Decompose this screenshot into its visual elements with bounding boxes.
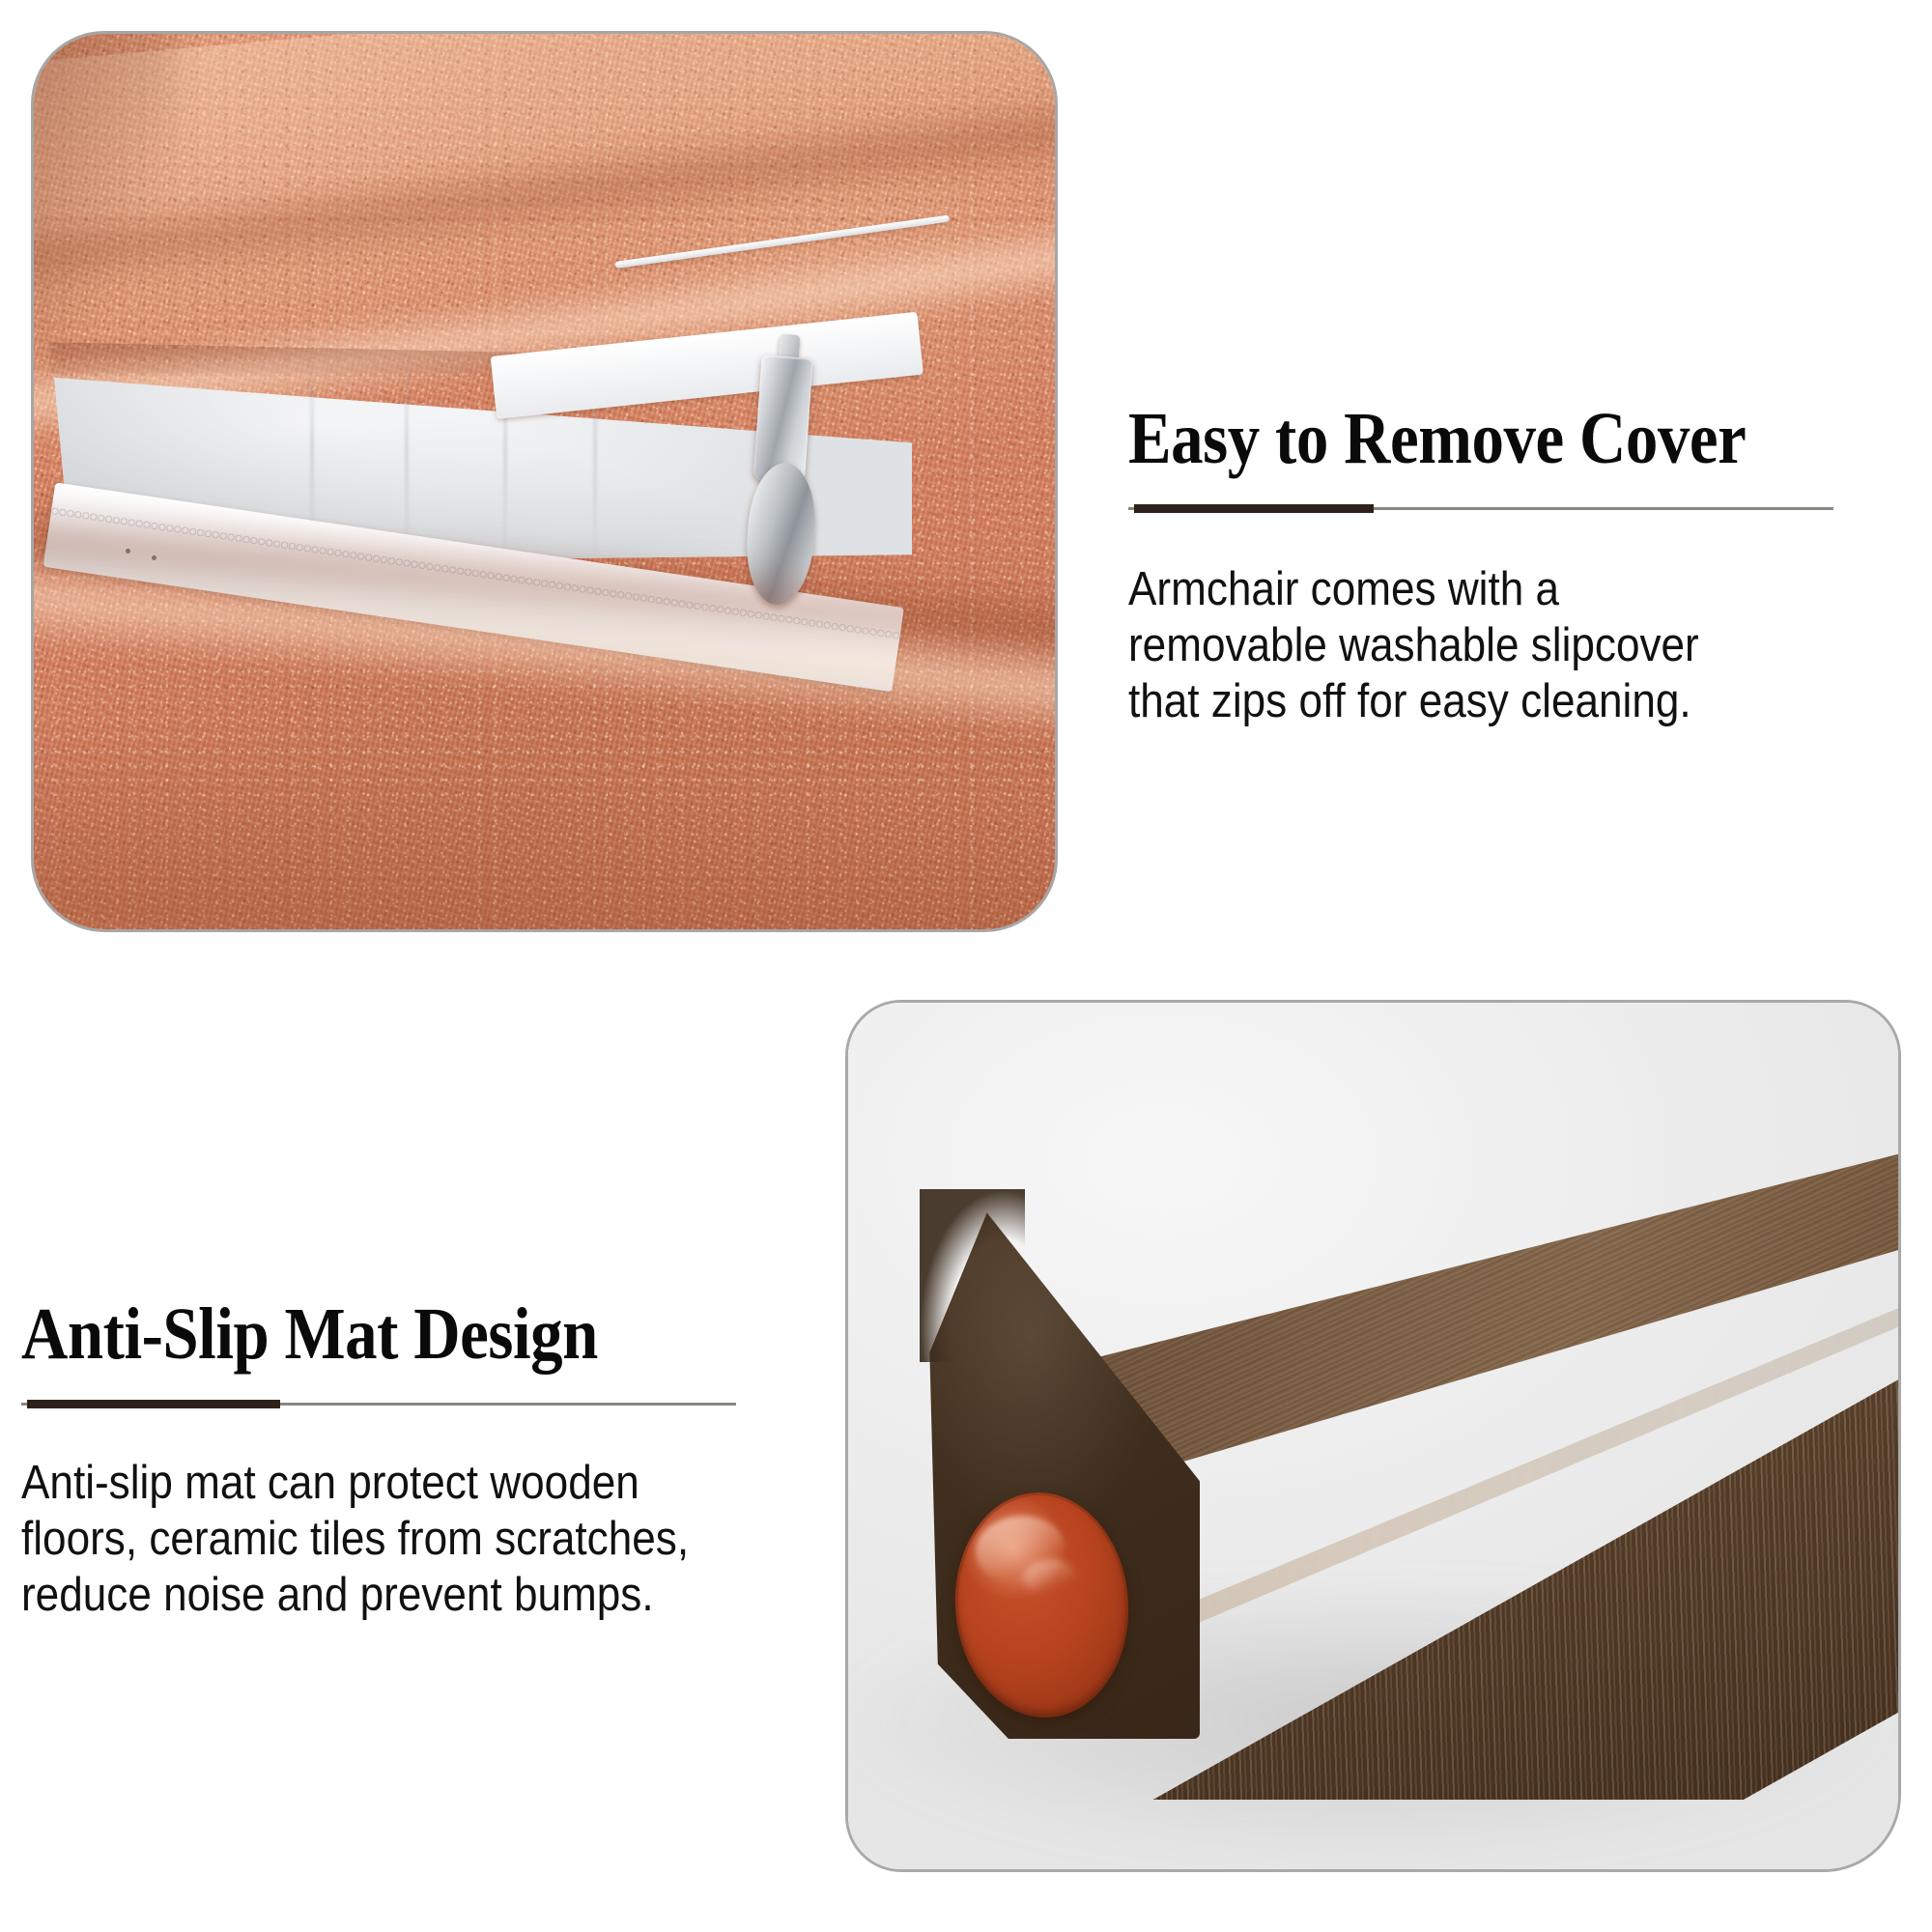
liner-crease xyxy=(406,331,408,564)
divider-accent xyxy=(1134,504,1374,513)
heading-divider xyxy=(1128,503,1833,513)
feature-heading: Easy to Remove Cover xyxy=(1128,404,1808,474)
leg-photo-scene xyxy=(848,1003,1898,1869)
feature-block-easy-to-remove-cover: Easy to Remove Cover Armchair comes with… xyxy=(1128,404,1901,729)
divider-accent xyxy=(27,1400,280,1408)
anti-slip-pad-rim xyxy=(948,1487,1136,1723)
infographic-canvas: Easy to Remove Cover Armchair comes with… xyxy=(0,0,1932,1932)
leg-photo-panel xyxy=(845,1000,1901,1872)
leg-rounded-corner xyxy=(920,1189,1025,1362)
feature-body-text: Anti-slip mat can protect wooden floors,… xyxy=(21,1455,708,1623)
zipper-pull-icon xyxy=(724,354,833,601)
feature-body-text: Armchair comes with a removable washable… xyxy=(1128,561,1824,729)
zipper-pull-loop xyxy=(743,461,819,608)
cover-photo-panel xyxy=(31,31,1058,932)
heading-divider xyxy=(21,1399,736,1408)
wooden-leg xyxy=(848,1003,1898,1869)
feature-block-anti-slip-mat-design: Anti-Slip Mat Design Anti-slip mat can p… xyxy=(21,1299,784,1623)
feature-heading: Anti-Slip Mat Design xyxy=(21,1299,693,1370)
anti-slip-pad xyxy=(948,1487,1136,1723)
